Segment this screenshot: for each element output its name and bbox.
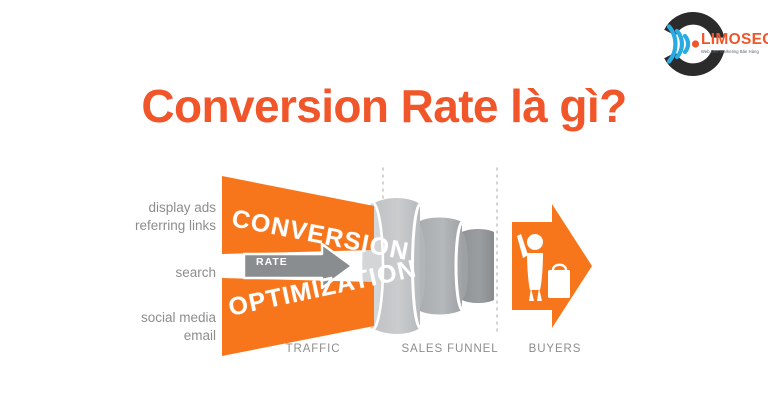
stage-label-sales-funnel: SALES FUNNEL [385,343,515,355]
brand-logo[interactable]: LIMOSEO Web Seo Marketing Bán Hàng [655,6,763,82]
buyers-arrow [512,204,592,328]
source-label-email: email [96,328,216,344]
rate-arrow-label: RATE [256,256,288,268]
conversion-rate-optimization-diagram: display ads referring links search socia… [0,160,768,375]
page-title: Conversion Rate là gì? [0,78,768,136]
traffic-source-labels: display ads referring links search socia… [96,160,216,360]
source-label-social-media: social media [96,310,216,326]
logo-tagline: Web Seo Marketing Bán Hàng [701,50,765,54]
source-label-display-ads: display ads [96,200,216,216]
logo-wordmark: LIMOSEO Web Seo Marketing Bán Hàng [701,32,765,54]
slide-canvas: LIMOSEO Web Seo Marketing Bán Hàng Conve… [0,0,768,400]
source-label-referring-links: referring links [96,218,216,234]
logo-name: LIMOSEO [701,32,765,48]
stage-label-traffic: TRAFFIC [258,343,368,355]
source-label-search: search [96,265,216,281]
stage-label-buyers: BUYERS [505,343,605,355]
